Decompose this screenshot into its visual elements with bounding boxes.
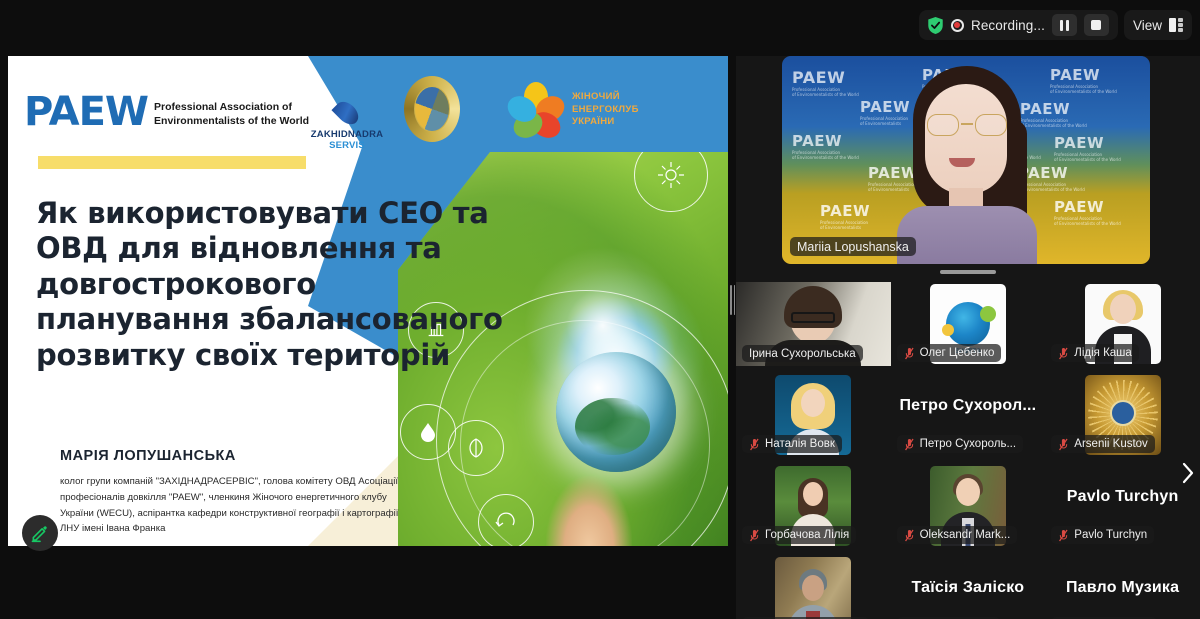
speaker-name: Mariia Lopushanska [797, 240, 909, 254]
active-speaker-tile[interactable]: PAEWProfessional Associationof Environme… [782, 56, 1150, 264]
participant-name: Наталія Вовк [765, 438, 835, 450]
participant-tile[interactable]: Оксана Збанаць... [736, 555, 891, 619]
participant-name-badge: Горбачова Лілія [742, 526, 856, 544]
participant-tile[interactable]: Таїсія Заліско Таїсія Заліско [891, 555, 1046, 619]
pencil-annotate-icon [30, 523, 50, 543]
participant-tile[interactable]: Лідія Каша [1045, 282, 1200, 366]
participant-name-badge: Наталія Вовк [742, 435, 842, 453]
wecu-line-1: ЖІНОЧИЙ [572, 91, 639, 104]
participant-name-badge: Олег Цебенко [897, 344, 1002, 362]
paew-tagline-line-2: Environmentalists of the World [154, 115, 309, 128]
participant-name: Arsenii Kustov [1074, 438, 1148, 450]
participant-display-name: Таїсія Заліско [891, 579, 1046, 597]
participant-grid: Ірина Сухорольська EUSETS Олег [736, 282, 1200, 619]
microphone-off-icon [1058, 347, 1069, 360]
zakhidnadra-line-2: SERVIS [304, 140, 390, 151]
shield-check-icon [927, 16, 944, 35]
view-label: View [1133, 18, 1162, 33]
participant-name: Петро Сухороль... [920, 438, 1016, 450]
participant-tile[interactable]: Pavlo Turchyn Pavlo Turchyn [1045, 464, 1200, 548]
stop-recording-button[interactable] [1084, 14, 1109, 36]
annotate-button[interactable] [22, 515, 58, 551]
leaf-icon [448, 420, 504, 476]
participant-display-name: Pavlo Turchyn [1045, 488, 1200, 506]
top-bar-controls: Recording... View [919, 10, 1192, 40]
presentation-slide: PAEW Professional Association of Environ… [8, 56, 728, 546]
participant-name: Олег Цебенко [920, 347, 995, 359]
participant-tile[interactable]: Петро Сухорол... Петро Сухороль... [891, 373, 1046, 457]
meeting-window: Recording... View [0, 0, 1200, 619]
microphone-off-icon [904, 529, 915, 542]
participant-tile[interactable]: Oleksandr Mark... [891, 464, 1046, 548]
slide-author-name: МАРІЯ ЛОПУШАНСЬКА [60, 448, 236, 464]
participant-name-badge: Ірина Сухорольська [742, 345, 863, 362]
wecu-line-3: УКРАЇНИ [572, 116, 639, 129]
participant-tile[interactable]: Павло Музика Павло Музика [1045, 555, 1200, 619]
shared-screen-area[interactable]: PAEW Professional Association of Environ… [0, 56, 736, 619]
participant-tile[interactable]: Наталія Вовк [736, 373, 891, 457]
record-dot-icon [951, 19, 964, 32]
participant-name: Pavlo Turchyn [1074, 529, 1147, 541]
paew-logo: PAEW Professional Association of Environ… [24, 94, 309, 130]
microphone-off-icon [904, 347, 915, 360]
stop-icon [1091, 20, 1101, 30]
eyeglasses-graphic [925, 114, 1009, 136]
scroll-indicator-icon[interactable] [940, 270, 996, 274]
chevron-right-icon[interactable] [1180, 462, 1196, 484]
participant-name-badge: Pavlo Turchyn [1051, 526, 1154, 544]
participant-tile[interactable]: Ірина Сухорольська [736, 282, 891, 366]
microphone-off-icon [1058, 529, 1069, 542]
layout-grid-icon [1169, 18, 1183, 32]
speaker-name-badge: Mariia Lopushanska [790, 237, 916, 256]
paew-tagline: Professional Association of Environmenta… [154, 101, 309, 128]
university-seal-icon [404, 76, 460, 142]
zakhidnadra-logo: ZAKHIDNADRA SERVIS [304, 100, 390, 151]
participant-name: Oleksandr Mark... [920, 529, 1011, 541]
participants-panel: PAEWProfessional Associationof Environme… [736, 40, 1200, 619]
pause-recording-button[interactable] [1052, 14, 1077, 36]
eusets-logo-icon [946, 302, 990, 346]
speaker-video-person [891, 66, 1041, 264]
water-drop-icon [331, 97, 362, 128]
view-button[interactable]: View [1124, 10, 1192, 40]
microphone-off-icon [1058, 438, 1069, 451]
participant-name: Ірина Сухорольська [749, 348, 856, 360]
panel-resize-handle-icon[interactable] [729, 281, 736, 319]
participant-display-name: Павло Музика [1045, 579, 1200, 597]
slide-title: Як використовувати СЕО та ОВД для віднов… [36, 196, 506, 373]
participant-name-badge: Петро Сухороль... [897, 435, 1023, 453]
participant-tile[interactable]: Горбачова Лілія [736, 464, 891, 548]
paew-logo-highlight [38, 156, 306, 169]
wecu-line-2: ЕНЕРГОКЛУБ [572, 104, 639, 117]
participant-tile[interactable]: Arsenii Kustov [1045, 373, 1200, 457]
participant-display-name: Петро Сухорол... [891, 397, 1046, 415]
participant-tile[interactable]: EUSETS Олег Цебенко [891, 282, 1046, 366]
microphone-off-icon [749, 529, 760, 542]
pause-icon [1060, 20, 1070, 31]
paew-wordmark: PAEW [24, 94, 148, 130]
participant-name-badge: Лідія Каша [1051, 344, 1139, 362]
slide-logo-header: PAEW Professional Association of Environ… [8, 56, 728, 152]
participant-name: Горбачова Лілія [765, 529, 849, 541]
participant-name-badge: Oleksandr Mark... [897, 526, 1018, 544]
recording-status-pill: Recording... [919, 10, 1118, 40]
participant-video [775, 557, 851, 619]
slide-author-bio: колог групи компаній "ЗАХІДНАДРАСЕРВІС",… [60, 474, 405, 537]
wecu-logo: ЖІНОЧИЙ ЕНЕРГОКЛУБ УКРАЇНИ [508, 82, 639, 138]
participant-name: Лідія Каша [1074, 347, 1132, 359]
participant-name-badge: Arsenii Kustov [1051, 435, 1155, 453]
meeting-top-bar: Recording... View [0, 0, 1200, 56]
energy-flower-icon [508, 82, 564, 138]
zakhidnadra-line-1: ZAKHIDNADRA [304, 129, 390, 140]
wecu-text: ЖІНОЧИЙ ЕНЕРГОКЛУБ УКРАЇНИ [572, 91, 639, 129]
microphone-off-icon [904, 438, 915, 451]
recycle-icon [478, 494, 534, 546]
microphone-off-icon [749, 438, 760, 451]
earth-globe-graphic [556, 352, 676, 472]
paew-tagline-line-1: Professional Association of [154, 101, 309, 114]
recording-label: Recording... [971, 18, 1045, 33]
